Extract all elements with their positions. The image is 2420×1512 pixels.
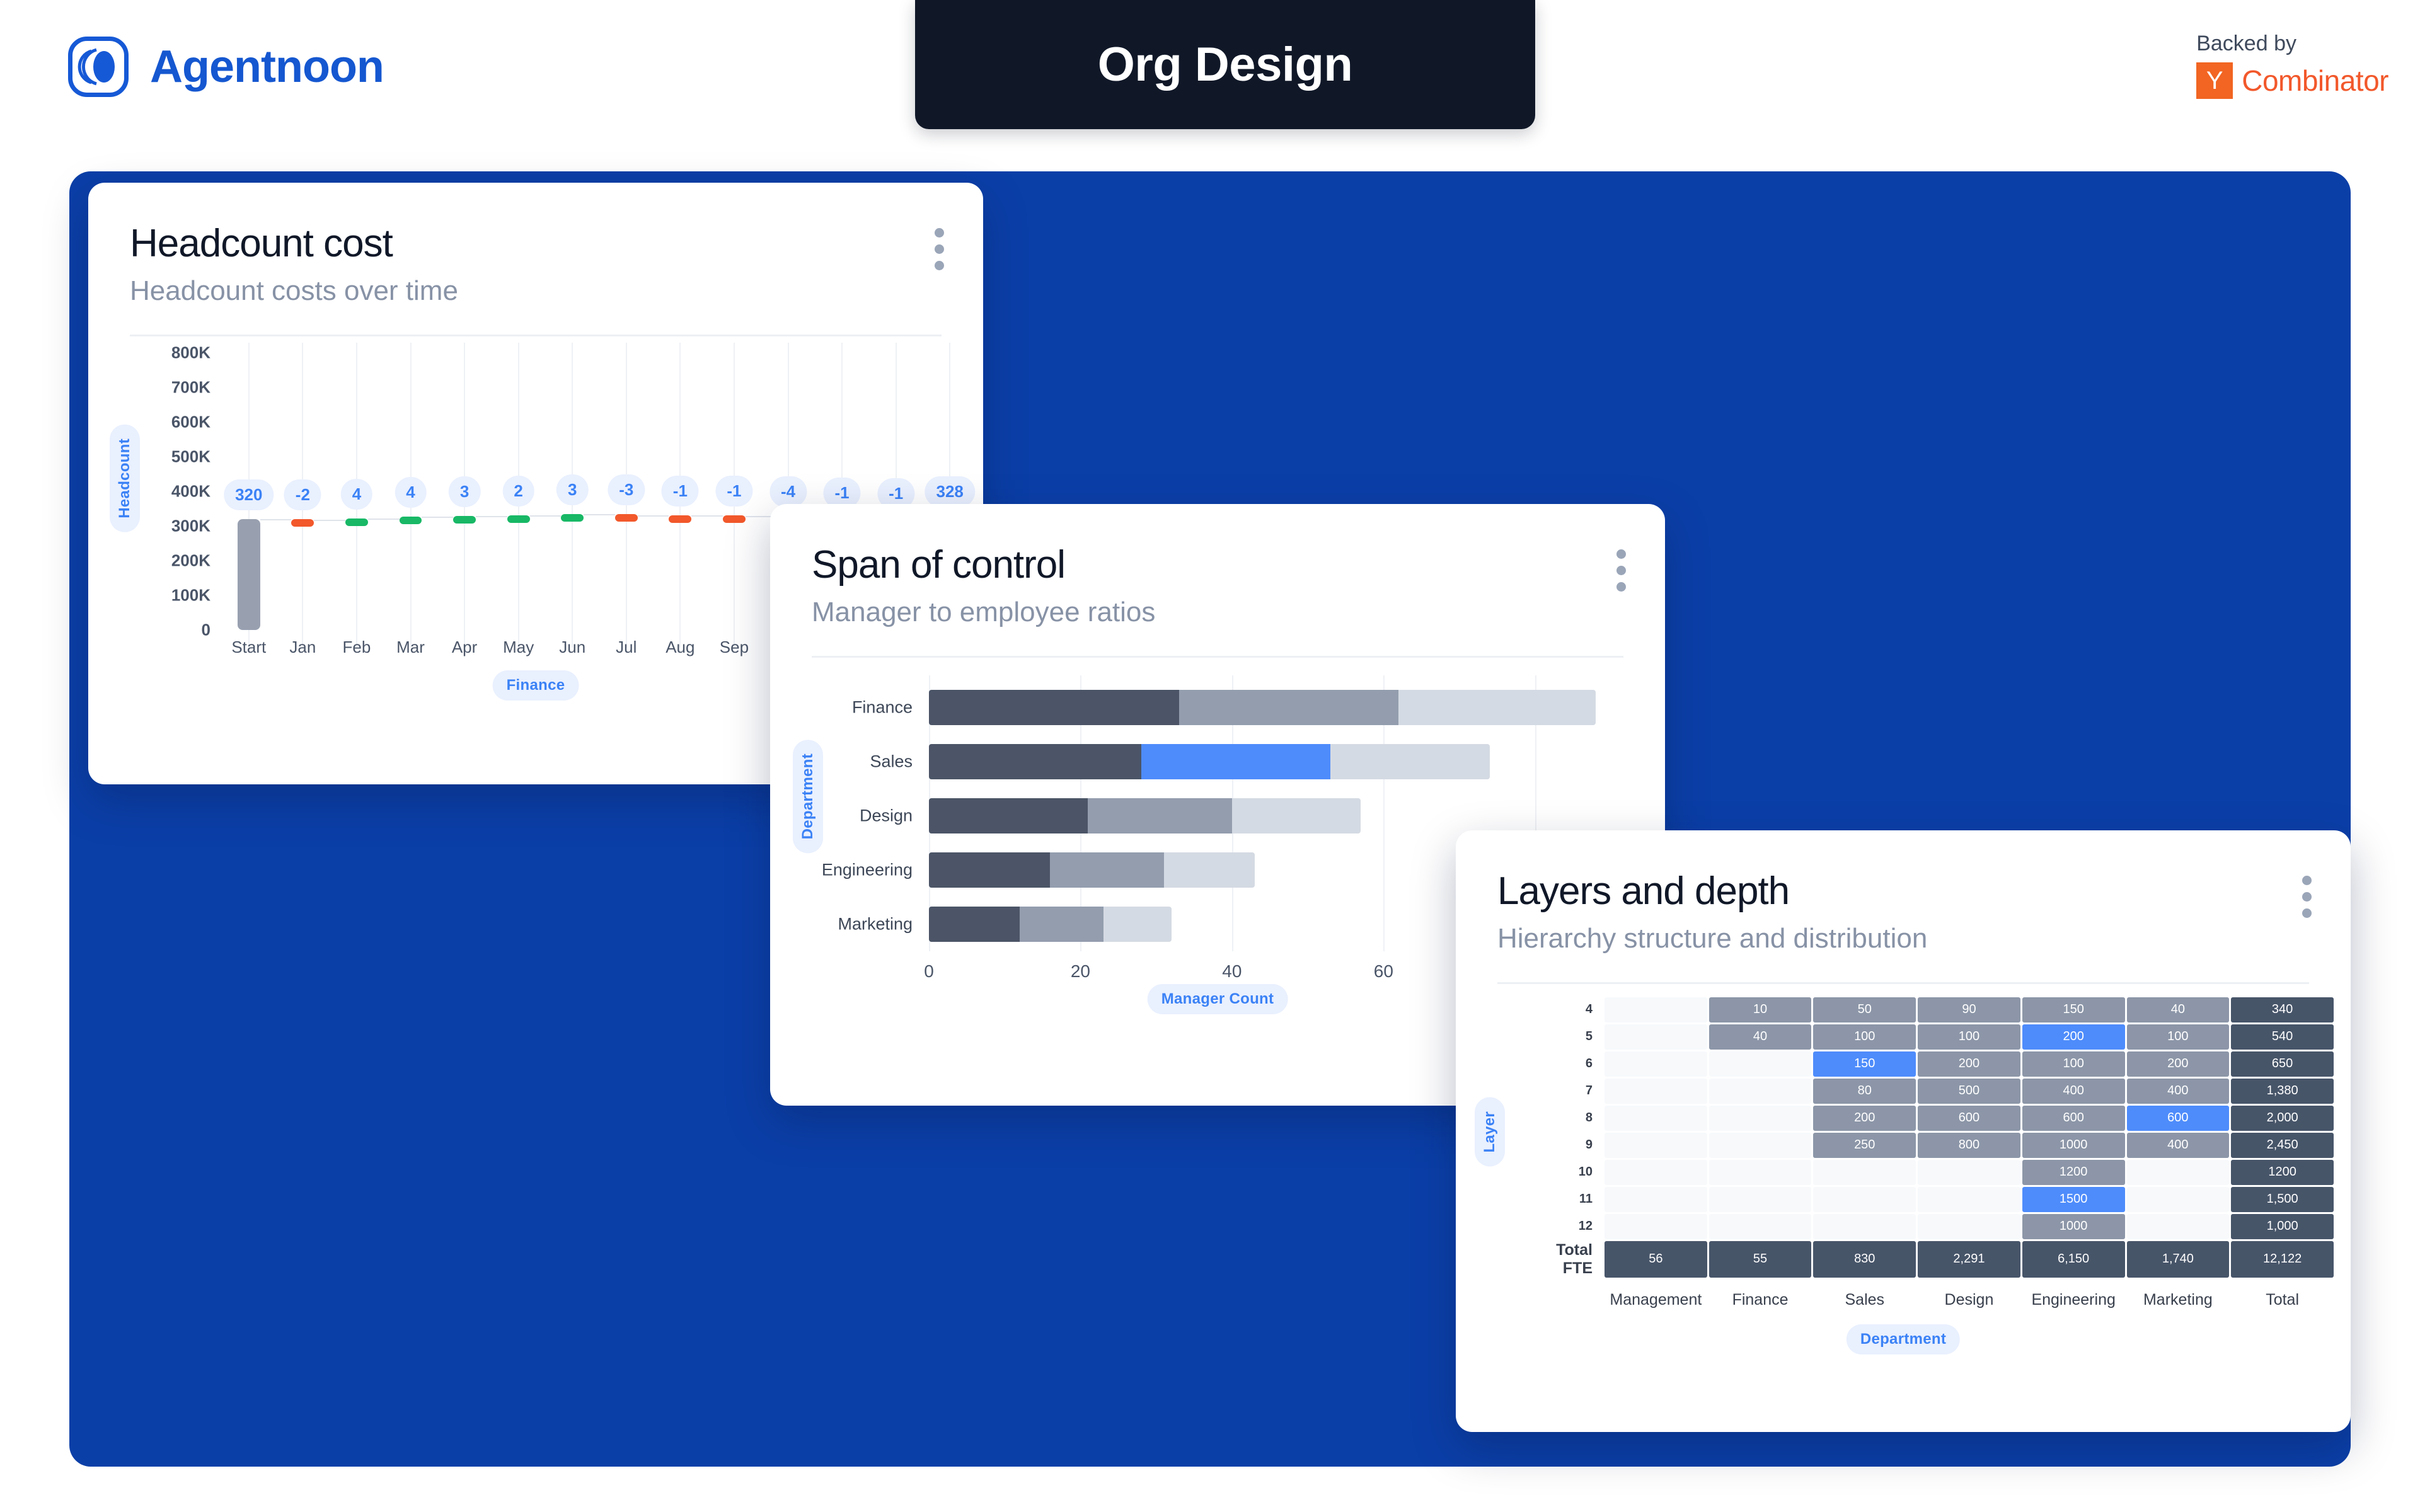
bar-segment[interactable] bbox=[1179, 690, 1399, 725]
heatmap-cell[interactable]: 150 bbox=[1813, 1051, 1916, 1077]
heatmap-cell[interactable]: 400 bbox=[2127, 1079, 2230, 1104]
bar-value-label: -4 bbox=[769, 476, 807, 507]
column-header: Sales bbox=[1813, 1280, 1916, 1312]
heatmap-cell[interactable]: 150 bbox=[2022, 997, 2125, 1022]
row-total-cell[interactable]: 340 bbox=[2231, 997, 2334, 1022]
y-combinator-icon: Y bbox=[2196, 62, 2233, 99]
row-total-cell[interactable]: 1200 bbox=[2231, 1160, 2334, 1185]
row-header: Total FTE bbox=[1532, 1241, 1603, 1278]
x-axis-label: Finance bbox=[493, 670, 579, 701]
x-axis-tick: 20 bbox=[1071, 961, 1090, 982]
heatmap-cell[interactable] bbox=[1813, 1160, 1916, 1185]
backed-by-label: Backed by bbox=[2196, 31, 2388, 56]
y-axis-tick: 600K bbox=[171, 412, 222, 432]
bar-value-label: -1 bbox=[715, 476, 752, 507]
y-axis-tick: 500K bbox=[171, 447, 222, 466]
bar-value-label: -1 bbox=[662, 476, 699, 507]
heatmap-cell[interactable]: 1000 bbox=[2022, 1214, 2125, 1239]
heatmap-cell[interactable]: 600 bbox=[2127, 1106, 2230, 1131]
bar-segment[interactable] bbox=[1050, 852, 1163, 888]
bar-row: Finance bbox=[929, 690, 1611, 725]
x-axis-tick: Aug bbox=[665, 638, 694, 657]
bar-value-label: 4 bbox=[341, 479, 372, 510]
page-title: Org Design bbox=[1098, 37, 1353, 92]
heatmap-cell[interactable]: 100 bbox=[1813, 1024, 1916, 1050]
backed-by: Backed by Y Combinator bbox=[2196, 31, 2388, 99]
heatmap-table: 4105090150403405401001002001005406150200… bbox=[1530, 995, 2336, 1314]
heatmap-cell[interactable] bbox=[1605, 1187, 1707, 1212]
category-label: Sales bbox=[870, 752, 929, 771]
table-row: 1115001,500 bbox=[1532, 1187, 2334, 1212]
y-axis-tick: 700K bbox=[171, 377, 222, 397]
bar-value-label: 3 bbox=[556, 474, 588, 505]
bar-value-label: -2 bbox=[284, 479, 321, 510]
waterfall-bar[interactable] bbox=[615, 514, 638, 522]
waterfall-bar[interactable] bbox=[345, 518, 368, 526]
total-cell[interactable]: 12,122 bbox=[2231, 1241, 2334, 1278]
bar-value-label: 3 bbox=[449, 476, 480, 507]
bar-segment[interactable] bbox=[929, 907, 1020, 942]
layers-heatmap: Layer 4105090150403405401001002001005406… bbox=[1456, 984, 2351, 1356]
row-total-cell[interactable]: 1,380 bbox=[2231, 1079, 2334, 1104]
bar-segment[interactable] bbox=[1164, 852, 1255, 888]
heatmap-cell[interactable] bbox=[1709, 1133, 1812, 1158]
category-label: Engineering bbox=[822, 860, 929, 879]
card-title: Layers and depth bbox=[1497, 869, 2309, 913]
column-header: Finance bbox=[1709, 1280, 1812, 1312]
card-title: Headcount cost bbox=[130, 222, 942, 265]
connector-line bbox=[476, 516, 507, 517]
bar-row: Design bbox=[929, 798, 1611, 833]
heatmap-cell[interactable]: 200 bbox=[1813, 1106, 1916, 1131]
waterfall-bar[interactable] bbox=[507, 515, 530, 523]
heatmap-cell[interactable] bbox=[1605, 1106, 1707, 1131]
total-fte-row: Total FTE56558302,2916,1501,74012,122 bbox=[1532, 1241, 2334, 1278]
heatmap-cell[interactable]: 1000 bbox=[2022, 1133, 2125, 1158]
x-axis-tick: Jun bbox=[559, 638, 585, 657]
y-axis-tick: 800K bbox=[171, 343, 222, 362]
y-axis-tick: 0 bbox=[202, 620, 222, 639]
card-title: Span of control bbox=[812, 543, 1623, 587]
x-axis-tick: 60 bbox=[1374, 961, 1393, 982]
table-row: 82006006006002,000 bbox=[1532, 1106, 2334, 1131]
waterfall-bar[interactable] bbox=[291, 519, 314, 527]
heatmap-cell[interactable] bbox=[1709, 1079, 1812, 1104]
column-header: Marketing bbox=[2127, 1280, 2230, 1312]
heatmap-cell[interactable] bbox=[1605, 1133, 1707, 1158]
heatmap-cell[interactable] bbox=[2127, 1187, 2230, 1212]
heatmap-cell[interactable] bbox=[1709, 1106, 1812, 1131]
investor-name: Combinator bbox=[2242, 64, 2388, 98]
x-axis-tick: Jul bbox=[616, 638, 637, 657]
heatmap-cell[interactable]: 500 bbox=[1918, 1079, 2020, 1104]
column-header: Total bbox=[2231, 1280, 2334, 1312]
heatmap-cell[interactable]: 800 bbox=[1918, 1133, 2020, 1158]
table-row: 1210001,000 bbox=[1532, 1214, 2334, 1239]
heatmap-cell[interactable]: 80 bbox=[1813, 1079, 1916, 1104]
total-cell[interactable]: 6,150 bbox=[2022, 1241, 2125, 1278]
x-axis-label: Manager Count bbox=[1148, 984, 1288, 1014]
bar-segment[interactable] bbox=[1232, 798, 1361, 833]
heatmap-cell[interactable]: 50 bbox=[1813, 997, 1916, 1022]
bar-segment[interactable] bbox=[1020, 907, 1103, 942]
y-axis-label: Department bbox=[793, 740, 823, 853]
row-header: 8 bbox=[1532, 1106, 1603, 1131]
heatmap-cell[interactable] bbox=[1709, 1051, 1812, 1077]
heatmap-cell[interactable] bbox=[1813, 1214, 1916, 1239]
heatmap-cell[interactable]: 100 bbox=[2127, 1024, 2230, 1050]
bar-segment[interactable] bbox=[1398, 690, 1596, 725]
card-subtitle: Hierarchy structure and distribution bbox=[1497, 923, 2309, 954]
bar-segment[interactable] bbox=[929, 744, 1141, 779]
heatmap-cell[interactable]: 1200 bbox=[2022, 1160, 2125, 1185]
y-axis-label: Layer bbox=[1475, 1097, 1505, 1167]
table-row: 7805004004001,380 bbox=[1532, 1079, 2334, 1104]
row-header: 11 bbox=[1532, 1187, 1603, 1212]
heatmap-cell[interactable] bbox=[1709, 1214, 1812, 1239]
corner-cell bbox=[1532, 1280, 1603, 1312]
row-header: 9 bbox=[1532, 1133, 1603, 1158]
waterfall-bar[interactable] bbox=[238, 519, 260, 630]
heatmap-cell[interactable] bbox=[1709, 1160, 1812, 1185]
heatmap-cell[interactable]: 40 bbox=[2127, 997, 2230, 1022]
connector-line bbox=[422, 517, 453, 518]
heatmap-cell[interactable]: 100 bbox=[2022, 1051, 2125, 1077]
card-subtitle: Headcount costs over time bbox=[130, 275, 942, 306]
connector-line bbox=[638, 515, 669, 517]
row-header: 10 bbox=[1532, 1160, 1603, 1185]
row-header: 4 bbox=[1532, 997, 1603, 1022]
heatmap-cell[interactable] bbox=[1605, 1024, 1707, 1050]
bar-segment[interactable] bbox=[929, 690, 1179, 725]
heatmap-cell[interactable]: 600 bbox=[2022, 1106, 2125, 1131]
bar-segment[interactable] bbox=[1088, 798, 1231, 833]
table-row: 6150200100200650 bbox=[1532, 1051, 2334, 1077]
heatmap-cell[interactable]: 10 bbox=[1709, 997, 1812, 1022]
bar-value-label: -3 bbox=[608, 474, 645, 505]
bar-row: Sales bbox=[929, 744, 1611, 779]
bar-value-label: 320 bbox=[224, 479, 274, 510]
row-header: 6 bbox=[1532, 1051, 1603, 1077]
waterfall-bar[interactable] bbox=[453, 516, 476, 524]
brand-name: Agentnoon bbox=[150, 44, 384, 89]
category-label: Finance bbox=[852, 697, 929, 717]
heatmap-cell[interactable]: 400 bbox=[2127, 1133, 2230, 1158]
y-axis-label: Headcount bbox=[110, 425, 140, 532]
table-row: 925080010004002,450 bbox=[1532, 1133, 2334, 1158]
bar-segment[interactable] bbox=[929, 798, 1088, 833]
heatmap-cell[interactable]: 1500 bbox=[2022, 1187, 2125, 1212]
total-cell[interactable]: 2,291 bbox=[1918, 1241, 2020, 1278]
connector-line bbox=[691, 515, 723, 517]
heatmap-cell[interactable]: 200 bbox=[1918, 1051, 2020, 1077]
x-axis-tick: Feb bbox=[343, 638, 371, 657]
brand-logo[interactable]: Agentnoon bbox=[68, 37, 384, 97]
x-axis-tick: 40 bbox=[1222, 961, 1242, 982]
connector-line bbox=[368, 518, 400, 520]
y-axis-tick: 200K bbox=[171, 551, 222, 570]
row-total-cell[interactable]: 2,000 bbox=[2231, 1106, 2334, 1131]
heatmap-cell[interactable] bbox=[2127, 1214, 2230, 1239]
column-header-row: ManagementFinanceSalesDesignEngineeringM… bbox=[1532, 1280, 2334, 1312]
column-header: Design bbox=[1918, 1280, 2020, 1312]
row-total-cell[interactable]: 1,000 bbox=[2231, 1214, 2334, 1239]
heatmap-cell[interactable] bbox=[1605, 1079, 1707, 1104]
x-axis-tick: Sep bbox=[720, 638, 749, 657]
bar-value-label: 4 bbox=[395, 477, 426, 508]
waterfall-bar[interactable] bbox=[669, 515, 691, 523]
heatmap-cell[interactable]: 100 bbox=[1918, 1024, 2020, 1050]
row-header: 7 bbox=[1532, 1079, 1603, 1104]
bar-value-label: 2 bbox=[502, 476, 534, 507]
x-axis-tick: Apr bbox=[452, 638, 477, 657]
card-layers-and-depth: Layers and depth Hierarchy structure and… bbox=[1456, 830, 2351, 1432]
page-root: Agentnoon Org Design Backed by Y Combina… bbox=[0, 0, 2420, 1512]
heatmap-cell[interactable] bbox=[1605, 997, 1707, 1022]
total-cell[interactable]: 830 bbox=[1813, 1241, 1916, 1278]
waterfall-bar[interactable] bbox=[400, 517, 422, 524]
connector-line bbox=[314, 520, 345, 521]
heatmap-cell[interactable]: 200 bbox=[2127, 1051, 2230, 1077]
total-cell[interactable]: 55 bbox=[1709, 1241, 1812, 1278]
page-title-banner: Org Design bbox=[915, 0, 1535, 129]
bar-value-label: 328 bbox=[925, 476, 975, 507]
row-total-cell[interactable]: 540 bbox=[2231, 1024, 2334, 1050]
heatmap-cell[interactable] bbox=[1918, 1187, 2020, 1212]
category-label: Marketing bbox=[838, 914, 929, 934]
heatmap-cell[interactable] bbox=[1605, 1160, 1707, 1185]
total-cell[interactable]: 56 bbox=[1605, 1241, 1707, 1278]
card-subtitle: Manager to employee ratios bbox=[812, 597, 1623, 627]
category-label: Design bbox=[860, 806, 929, 825]
connector-line bbox=[530, 515, 562, 517]
heatmap-cell[interactable]: 600 bbox=[1918, 1106, 2020, 1131]
bar-segment[interactable] bbox=[1103, 907, 1172, 942]
column-header: Engineering bbox=[2022, 1280, 2125, 1312]
waterfall-bar[interactable] bbox=[723, 515, 746, 523]
table-row: 540100100200100540 bbox=[1532, 1024, 2334, 1050]
x-axis-tick: May bbox=[503, 638, 534, 657]
bar-segment[interactable] bbox=[929, 852, 1050, 888]
heatmap-cell[interactable] bbox=[1918, 1214, 2020, 1239]
heatmap-cell[interactable] bbox=[1605, 1051, 1707, 1077]
heatmap-cell[interactable] bbox=[1813, 1187, 1916, 1212]
total-cell[interactable]: 1,740 bbox=[2127, 1241, 2230, 1278]
bar-segment[interactable] bbox=[1330, 744, 1489, 779]
connector-line bbox=[260, 519, 292, 520]
heatmap-cell[interactable] bbox=[1918, 1160, 2020, 1185]
row-total-cell[interactable]: 1,500 bbox=[2231, 1187, 2334, 1212]
row-header: 5 bbox=[1532, 1024, 1603, 1050]
x-axis-tick: Start bbox=[231, 638, 266, 657]
connector-line bbox=[584, 514, 615, 515]
x-axis-tick: 0 bbox=[924, 961, 934, 982]
kebab-menu-icon[interactable] bbox=[1616, 549, 1626, 592]
x-axis-tick: Jan bbox=[289, 638, 316, 657]
waterfall-bar[interactable] bbox=[561, 514, 584, 522]
heatmap-cell[interactable]: 200 bbox=[2022, 1024, 2125, 1050]
heatmap-cell[interactable]: 40 bbox=[1709, 1024, 1812, 1050]
y-axis-tick: 300K bbox=[171, 516, 222, 535]
row-total-cell[interactable]: 650 bbox=[2231, 1051, 2334, 1077]
row-total-cell[interactable]: 2,450 bbox=[2231, 1133, 2334, 1158]
x-axis-label: Department bbox=[1847, 1324, 1960, 1354]
table-row: 410509015040340 bbox=[1532, 997, 2334, 1022]
heatmap-cell[interactable]: 90 bbox=[1918, 997, 2020, 1022]
x-axis-tick: Mar bbox=[396, 638, 425, 657]
heatmap-cell[interactable] bbox=[2127, 1160, 2230, 1185]
y-axis-tick: 400K bbox=[171, 481, 222, 501]
column-header: Management bbox=[1605, 1280, 1707, 1312]
heatmap-cell[interactable] bbox=[1709, 1187, 1812, 1212]
kebab-menu-icon[interactable] bbox=[935, 228, 944, 270]
row-header: 12 bbox=[1532, 1214, 1603, 1239]
y-axis-tick: 100K bbox=[171, 585, 222, 605]
heatmap-cell[interactable]: 250 bbox=[1813, 1133, 1916, 1158]
heatmap-cell[interactable]: 400 bbox=[2022, 1079, 2125, 1104]
heatmap-cell[interactable] bbox=[1605, 1214, 1707, 1239]
bar-segment[interactable] bbox=[1141, 744, 1331, 779]
agentnoon-logo-icon bbox=[68, 37, 129, 97]
table-row: 1012001200 bbox=[1532, 1160, 2334, 1185]
kebab-menu-icon[interactable] bbox=[2302, 876, 2312, 918]
